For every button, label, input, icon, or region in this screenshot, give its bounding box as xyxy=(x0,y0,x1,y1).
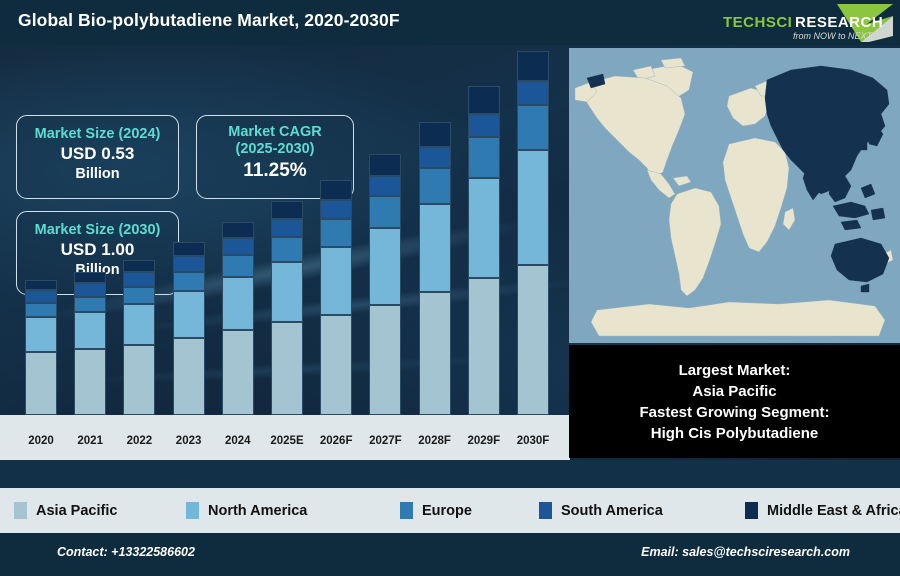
footer-bar: Contact: +13322586602 Email: sales@techs… xyxy=(0,533,900,576)
bar-segment[interactable] xyxy=(173,338,205,415)
bar-segment[interactable] xyxy=(369,154,401,176)
legend-item[interactable]: Middle East & Africa xyxy=(745,502,900,519)
x-axis-label: 2030F xyxy=(503,435,563,447)
bar-2026F[interactable] xyxy=(320,180,352,415)
world-map xyxy=(569,48,900,343)
largest-market-value: Asia Pacific xyxy=(575,381,894,402)
bar-segment[interactable] xyxy=(222,255,254,277)
legend-swatch xyxy=(539,502,552,519)
contact-text: Contact: +13322586602 xyxy=(57,545,195,559)
svg-text:TECHSCI: TECHSCI xyxy=(723,14,792,31)
legend-label: North America xyxy=(208,503,307,519)
legend-item[interactable]: Asia Pacific xyxy=(14,502,117,519)
legend-label: Middle East & Africa xyxy=(767,503,900,519)
bar-segment[interactable] xyxy=(517,81,549,105)
page-title: Global Bio-polybutadiene Market, 2020-20… xyxy=(18,10,400,31)
bar-segment[interactable] xyxy=(123,272,155,287)
bar-segment[interactable] xyxy=(320,247,352,315)
bar-segment[interactable] xyxy=(369,305,401,415)
bar-segment[interactable] xyxy=(123,345,155,415)
bar-segment[interactable] xyxy=(320,200,352,219)
bar-2025E[interactable] xyxy=(271,201,303,415)
bar-segment[interactable] xyxy=(173,256,205,272)
bar-2027F[interactable] xyxy=(369,154,401,415)
bar-segment[interactable] xyxy=(419,292,451,415)
bar-segment[interactable] xyxy=(25,280,57,290)
bar-segment[interactable] xyxy=(271,237,303,262)
legend-item[interactable]: Europe xyxy=(400,502,472,519)
bar-segment[interactable] xyxy=(517,105,549,150)
bar-segment[interactable] xyxy=(25,290,57,303)
bar-segment[interactable] xyxy=(517,150,549,265)
bar-2022[interactable] xyxy=(123,260,155,415)
legend-swatch xyxy=(745,502,758,519)
bar-2021[interactable] xyxy=(74,272,106,415)
bar-segment[interactable] xyxy=(271,201,303,219)
bar-segment[interactable] xyxy=(419,204,451,292)
legend-label: Asia Pacific xyxy=(36,503,117,519)
infographic-root: Global Bio-polybutadiene Market, 2020-20… xyxy=(0,0,900,576)
bar-segment[interactable] xyxy=(173,272,205,291)
svg-text:RESEARCH: RESEARCH xyxy=(795,14,883,31)
bar-segment[interactable] xyxy=(74,283,106,297)
legend-item[interactable]: South America xyxy=(539,502,663,519)
chart-legend: Asia PacificNorth AmericaEuropeSouth Ame… xyxy=(0,488,900,533)
bar-segment[interactable] xyxy=(517,265,549,415)
bar-segment[interactable] xyxy=(173,242,205,256)
bar-segment[interactable] xyxy=(468,114,500,137)
legend-swatch xyxy=(400,502,413,519)
bar-segment[interactable] xyxy=(419,147,451,168)
bar-2029F[interactable] xyxy=(468,86,500,415)
bar-2024[interactable] xyxy=(222,222,254,415)
largest-market-label: Largest Market: xyxy=(575,360,894,381)
bar-segment[interactable] xyxy=(123,304,155,345)
bar-segment[interactable] xyxy=(320,219,352,247)
bar-segment[interactable] xyxy=(369,228,401,305)
bar-segment[interactable] xyxy=(25,317,57,352)
bar-segment[interactable] xyxy=(25,352,57,415)
bar-segment[interactable] xyxy=(74,312,106,349)
legend-item[interactable]: North America xyxy=(186,502,307,519)
key-findings-callout: Largest Market: Asia Pacific Fastest Gro… xyxy=(569,345,900,458)
bar-segment[interactable] xyxy=(271,219,303,237)
header-bar: Global Bio-polybutadiene Market, 2020-20… xyxy=(0,0,900,45)
bar-segment[interactable] xyxy=(25,303,57,317)
bar-segment[interactable] xyxy=(74,349,106,415)
bar-segment[interactable] xyxy=(123,260,155,272)
techsci-research-logo[interactable]: TECHSCI RESEARCH from NOW to NEXT xyxy=(717,2,895,44)
legend-label: Europe xyxy=(422,503,472,519)
svg-text:from NOW to NEXT: from NOW to NEXT xyxy=(793,31,874,41)
bar-segment[interactable] xyxy=(468,137,500,178)
bar-segment[interactable] xyxy=(123,287,155,304)
legend-swatch xyxy=(186,502,199,519)
bar-segment[interactable] xyxy=(222,277,254,330)
bar-segment[interactable] xyxy=(320,315,352,415)
bar-segment[interactable] xyxy=(468,178,500,278)
bar-segment[interactable] xyxy=(222,330,254,415)
bar-2023[interactable] xyxy=(173,242,205,415)
legend-label: South America xyxy=(561,503,663,519)
bar-segment[interactable] xyxy=(419,168,451,204)
bar-2030F[interactable] xyxy=(517,51,549,415)
bar-segment[interactable] xyxy=(74,272,106,283)
bar-segment[interactable] xyxy=(173,291,205,338)
email-text: Email: sales@techsciresearch.com xyxy=(641,545,850,559)
fastest-segment-label: Fastest Growing Segment: xyxy=(575,402,894,423)
stacked-bar-chart: 202020212022202320242025E2026F2027F2028F… xyxy=(0,45,570,460)
fastest-segment-value: High Cis Polybutadiene xyxy=(575,423,894,444)
bar-segment[interactable] xyxy=(271,322,303,415)
bar-2028F[interactable] xyxy=(419,122,451,415)
bar-segment[interactable] xyxy=(468,278,500,415)
bar-segment[interactable] xyxy=(369,196,401,228)
bar-segment[interactable] xyxy=(468,86,500,114)
legend-swatch xyxy=(14,502,27,519)
bar-segment[interactable] xyxy=(369,176,401,196)
bar-segment[interactable] xyxy=(222,238,254,255)
bar-segment[interactable] xyxy=(271,262,303,322)
bar-segment[interactable] xyxy=(74,297,106,312)
bar-2020[interactable] xyxy=(25,280,57,415)
bar-segment[interactable] xyxy=(320,180,352,200)
bar-segment[interactable] xyxy=(222,222,254,238)
bar-segment[interactable] xyxy=(419,122,451,147)
bar-segment[interactable] xyxy=(517,51,549,81)
